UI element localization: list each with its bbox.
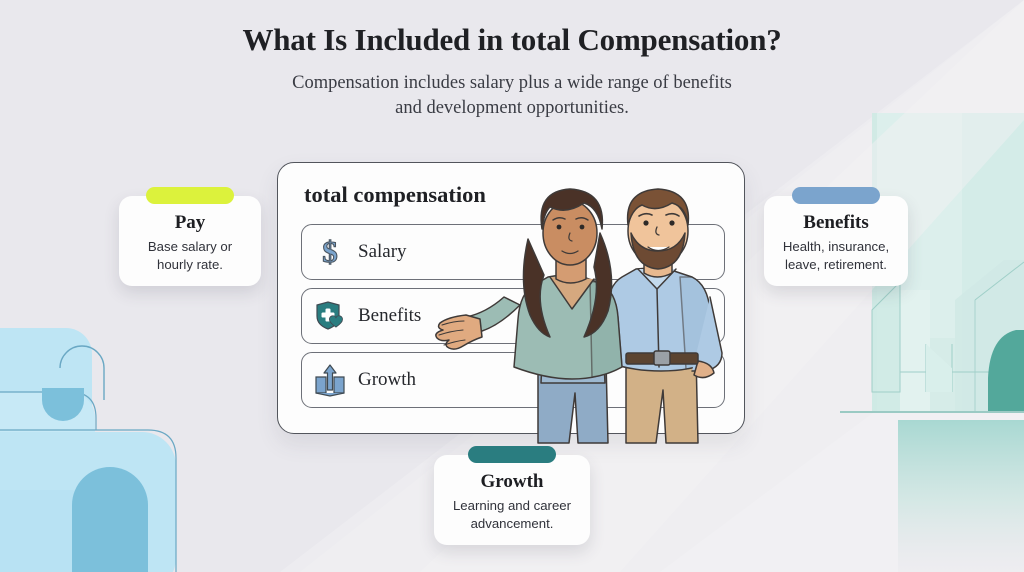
callout-title-benefits: Benefits bbox=[776, 212, 896, 234]
callout-desc-benefits: Health, insurance, leave, retirement. bbox=[776, 238, 896, 273]
page-subtitle: Compensation includes salary plus a wide… bbox=[0, 71, 1024, 122]
book-arrow-icon bbox=[302, 363, 358, 397]
decor-buildings-right bbox=[840, 113, 1024, 572]
callout-pill-growth bbox=[468, 446, 556, 463]
callout-desc-pay-line2: hourly rate. bbox=[131, 256, 249, 274]
callout-card-pay[interactable]: Pay Base salary or hourly rate. bbox=[119, 196, 261, 286]
callout-card-growth[interactable]: Growth Learning and career advancement. bbox=[434, 455, 590, 545]
callout-desc-benefits-line1: Health, insurance, bbox=[776, 238, 896, 256]
callout-desc-growth: Learning and career advancement. bbox=[446, 497, 578, 532]
shield-heart-icon bbox=[302, 299, 358, 333]
row-label-growth: Growth bbox=[358, 369, 416, 391]
callout-card-benefits[interactable]: Benefits Health, insurance, leave, retir… bbox=[764, 196, 908, 286]
person-woman bbox=[436, 189, 622, 443]
decor-shapes-left bbox=[0, 328, 176, 572]
callout-pill-pay bbox=[146, 187, 234, 204]
callout-desc-benefits-line2: leave, retirement. bbox=[776, 256, 896, 274]
callout-desc-pay: Base salary or hourly rate. bbox=[131, 238, 249, 273]
row-label-benefits: Benefits bbox=[358, 305, 421, 327]
callout-desc-growth-line2: advancement. bbox=[446, 515, 578, 533]
svg-text:$: $ bbox=[322, 235, 338, 269]
header: What Is Included in total Compensation? … bbox=[0, 22, 1024, 122]
page-title: What Is Included in total Compensation? bbox=[0, 22, 1024, 59]
callout-pill-benefits bbox=[792, 187, 880, 204]
callout-desc-growth-line1: Learning and career bbox=[446, 497, 578, 515]
row-label-salary: Salary bbox=[358, 241, 407, 263]
two-people-illustration bbox=[430, 185, 790, 445]
subtitle-line-2: and development opportunities. bbox=[0, 96, 1024, 122]
callout-desc-pay-line1: Base salary or bbox=[131, 238, 249, 256]
callout-title-pay: Pay bbox=[131, 212, 249, 234]
callout-title-growth: Growth bbox=[446, 471, 578, 493]
dollar-sign-icon: $ bbox=[302, 235, 358, 269]
infographic-canvas: What Is Included in total Compensation? … bbox=[0, 0, 1024, 572]
subtitle-line-1: Compensation includes salary plus a wide… bbox=[0, 71, 1024, 97]
